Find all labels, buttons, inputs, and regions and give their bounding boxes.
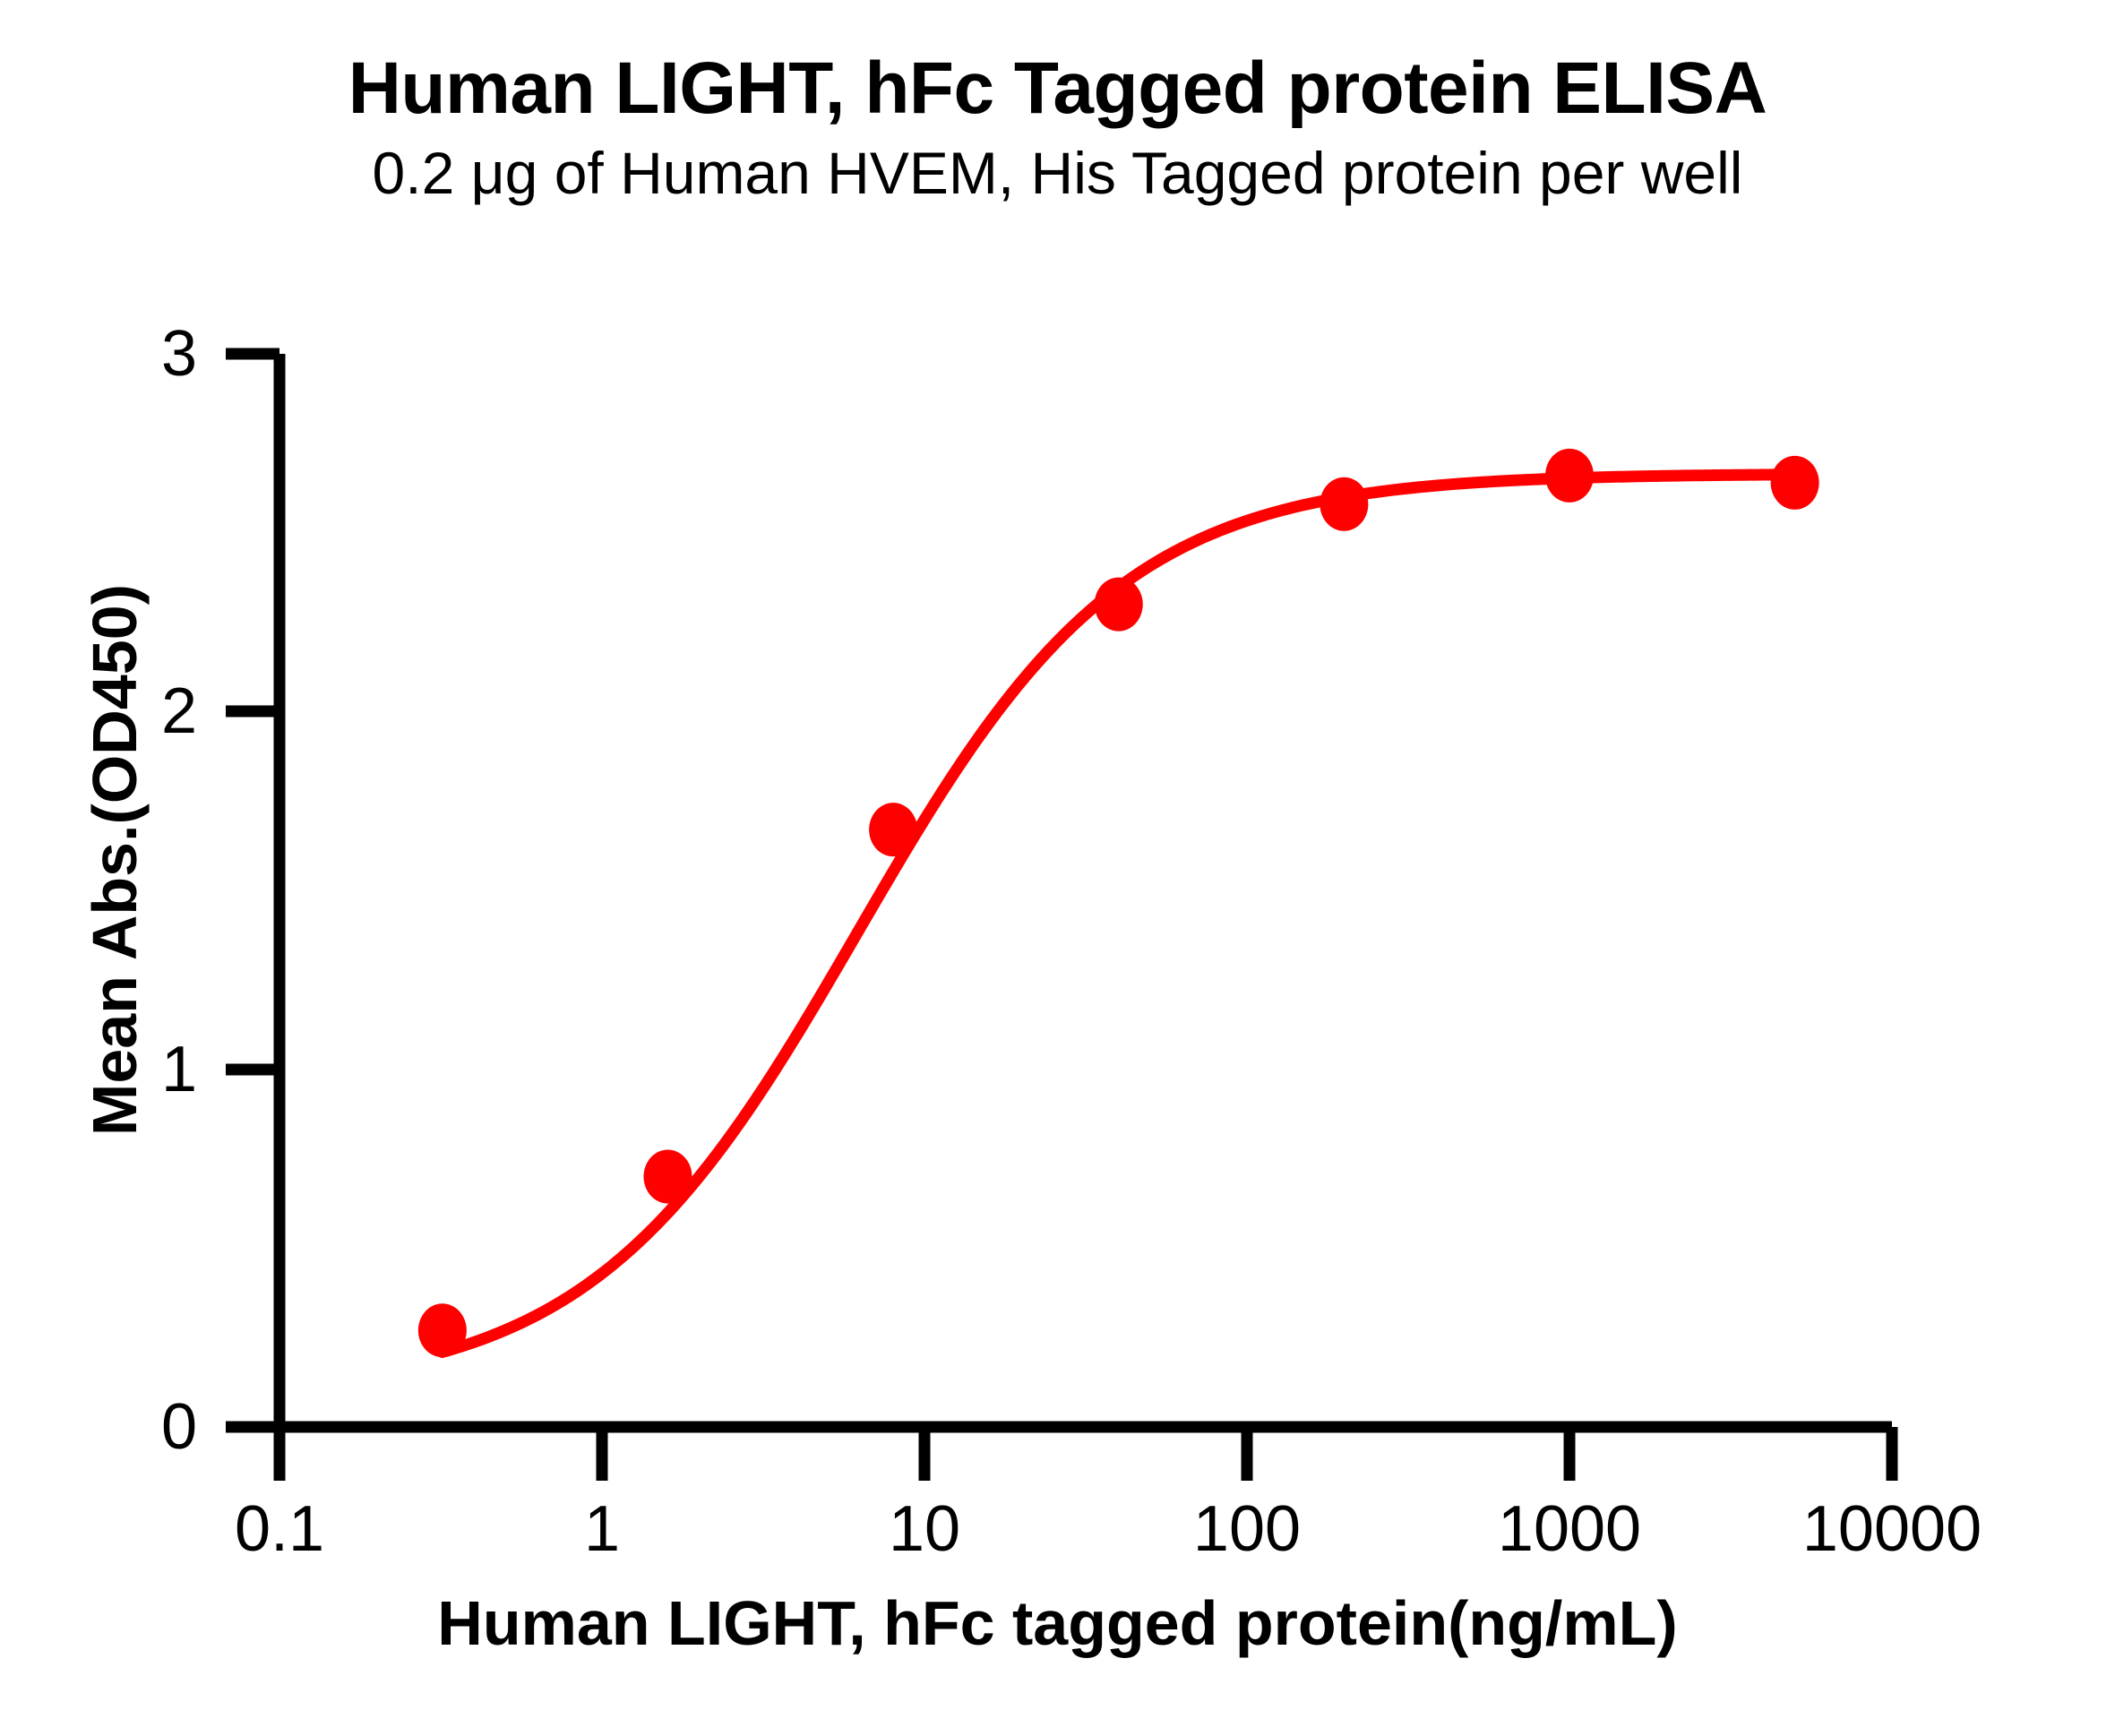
y-axis-title: Mean Abs.(OD450)	[79, 502, 150, 1218]
data-point	[418, 1303, 467, 1357]
x-tick-label-10000: 10000	[1802, 1492, 1982, 1566]
data-point	[1771, 456, 1819, 510]
data-point	[643, 1149, 692, 1203]
plot-area: Mean Abs.(OD450) Human LIGHT, hFc tagged…	[0, 0, 2115, 1736]
y-tick-marks	[226, 354, 279, 1427]
x-tick-label-1000: 1000	[1498, 1492, 1641, 1566]
x-tick-label-100: 100	[1193, 1492, 1301, 1566]
x-tick-marks	[279, 1427, 1892, 1481]
data-point	[1320, 477, 1368, 531]
y-tick-label-3: 3	[72, 317, 197, 391]
x-axis-title: Human LIGHT, hFc tagged protein(ng/mL)	[0, 1587, 2115, 1659]
plot-canvas	[0, 0, 2115, 1736]
x-tick-label-1: 1	[584, 1492, 620, 1566]
elisa-chart-figure: Human LIGHT, hFc Tagged protein ELISA 0.…	[0, 0, 2115, 1736]
data-point	[869, 803, 917, 856]
data-point	[1095, 578, 1143, 632]
y-tick-label-0: 0	[72, 1390, 197, 1464]
data-point	[1545, 449, 1594, 503]
y-tick-label-2: 2	[72, 675, 197, 748]
x-tick-label-10: 10	[889, 1492, 960, 1566]
data-point-markers	[418, 449, 1819, 1357]
y-tick-label-1: 1	[72, 1033, 197, 1106]
x-tick-label-0p1: 0.1	[235, 1492, 324, 1566]
